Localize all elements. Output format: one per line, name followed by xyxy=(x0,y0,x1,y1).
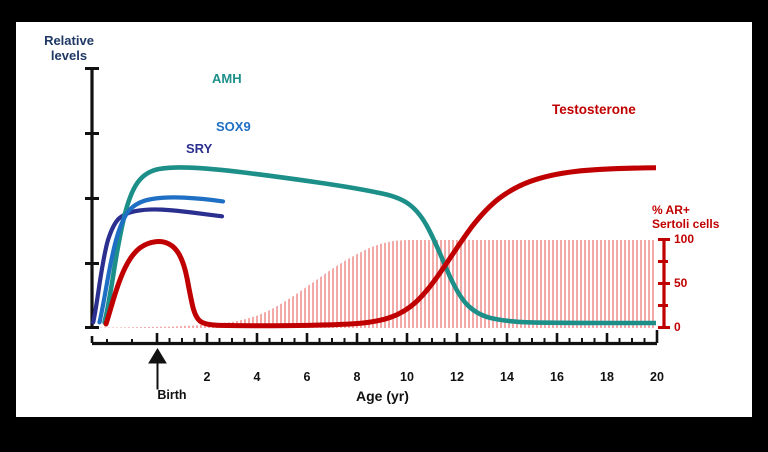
right-axis-title-line1: % AR+ xyxy=(652,203,690,217)
figure-frame: Relative levels AMH SOX9 SRY Testosteron… xyxy=(0,0,768,452)
birth-marker-label: Birth xyxy=(140,388,204,402)
series-label-sox9: SOX9 xyxy=(216,120,251,135)
x-tick-label-6: 6 xyxy=(304,370,311,384)
right-axis-title: % AR+ Sertoli cells xyxy=(652,204,744,232)
x-tick-label-16: 16 xyxy=(550,370,564,384)
right-axis-title-line2: Sertoli cells xyxy=(652,217,719,231)
x-tick-label-14: 14 xyxy=(500,370,514,384)
figure-canvas: Relative levels AMH SOX9 SRY Testosteron… xyxy=(16,22,752,417)
bottom-axis xyxy=(92,330,657,344)
x-tick-label-12: 12 xyxy=(450,370,464,384)
right-tick-label-50: 50 xyxy=(674,276,687,290)
x-major-ticks xyxy=(92,330,657,343)
x-tick-label-10: 10 xyxy=(400,370,414,384)
left-axis-title-line1: Relative xyxy=(44,33,94,48)
x-tick-label-4: 4 xyxy=(254,370,261,384)
x-tick-label-18: 18 xyxy=(600,370,614,384)
series-label-sry: SRY xyxy=(186,142,212,157)
x-tick-label-20: 20 xyxy=(650,370,664,384)
right-tick-label-0: 0 xyxy=(674,320,681,334)
x-tick-label-2: 2 xyxy=(204,370,211,384)
right-tick-label-100: 100 xyxy=(674,232,694,246)
plot-svg xyxy=(16,22,752,417)
left-axis-title-line2: levels xyxy=(51,48,87,63)
series-label-amh: AMH xyxy=(212,72,242,87)
birth-arrow-icon xyxy=(149,349,166,389)
x-axis-title: Age (yr) xyxy=(356,389,409,405)
series-label-testosterone: Testosterone xyxy=(552,102,636,117)
x-tick-label-8: 8 xyxy=(354,370,361,384)
right-axis xyxy=(658,239,670,328)
left-axis-title: Relative levels xyxy=(30,34,108,63)
